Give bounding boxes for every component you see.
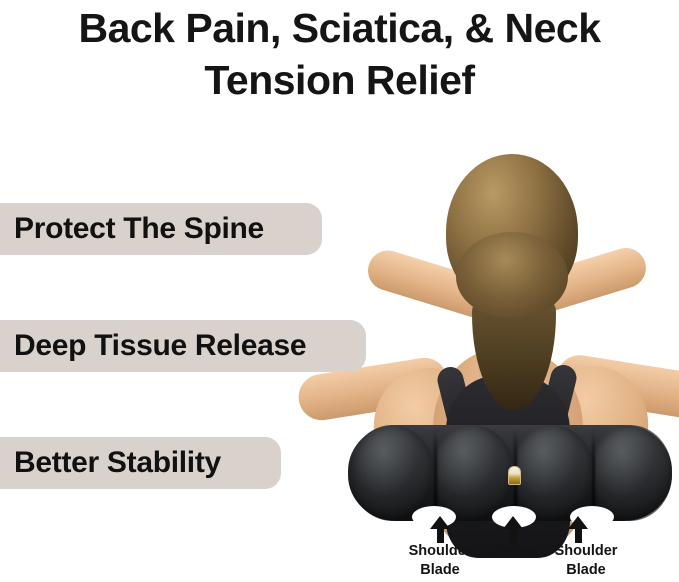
roller-groove [434, 429, 437, 517]
hair-bun [456, 232, 568, 318]
roller-groove [592, 429, 595, 517]
foam-roller [348, 425, 672, 521]
annotation-shoulder-blade-right: Shoulder Blade [536, 542, 636, 580]
headline-line-1: Back Pain, Sciatica, & Neck [78, 5, 600, 51]
arrow-shaft [575, 525, 582, 543]
benefit-badge-label: Protect The Spine [14, 214, 264, 244]
promo-image: Back Pain, Sciatica, & Neck Tension Reli… [0, 0, 679, 582]
benefit-badge-better-stability: Better Stability [0, 437, 281, 489]
benefit-badge-protect-the-spine: Protect The Spine [0, 203, 322, 255]
annotation-shoulder-blade-left: Shoulder Blade [390, 542, 490, 580]
headline-line-2: Tension Relief [0, 54, 679, 106]
arrow-shaft [510, 525, 517, 543]
arrow-shaft [437, 525, 444, 543]
benefit-badge-label: Deep Tissue Release [14, 331, 306, 361]
benefit-badge-deep-tissue-release: Deep Tissue Release [0, 320, 366, 372]
benefit-badge-label: Better Stability [14, 448, 221, 478]
roller-lobe [350, 425, 434, 521]
page-title: Back Pain, Sciatica, & Neck Tension Reli… [0, 2, 679, 106]
brand-logo-icon [508, 466, 521, 485]
